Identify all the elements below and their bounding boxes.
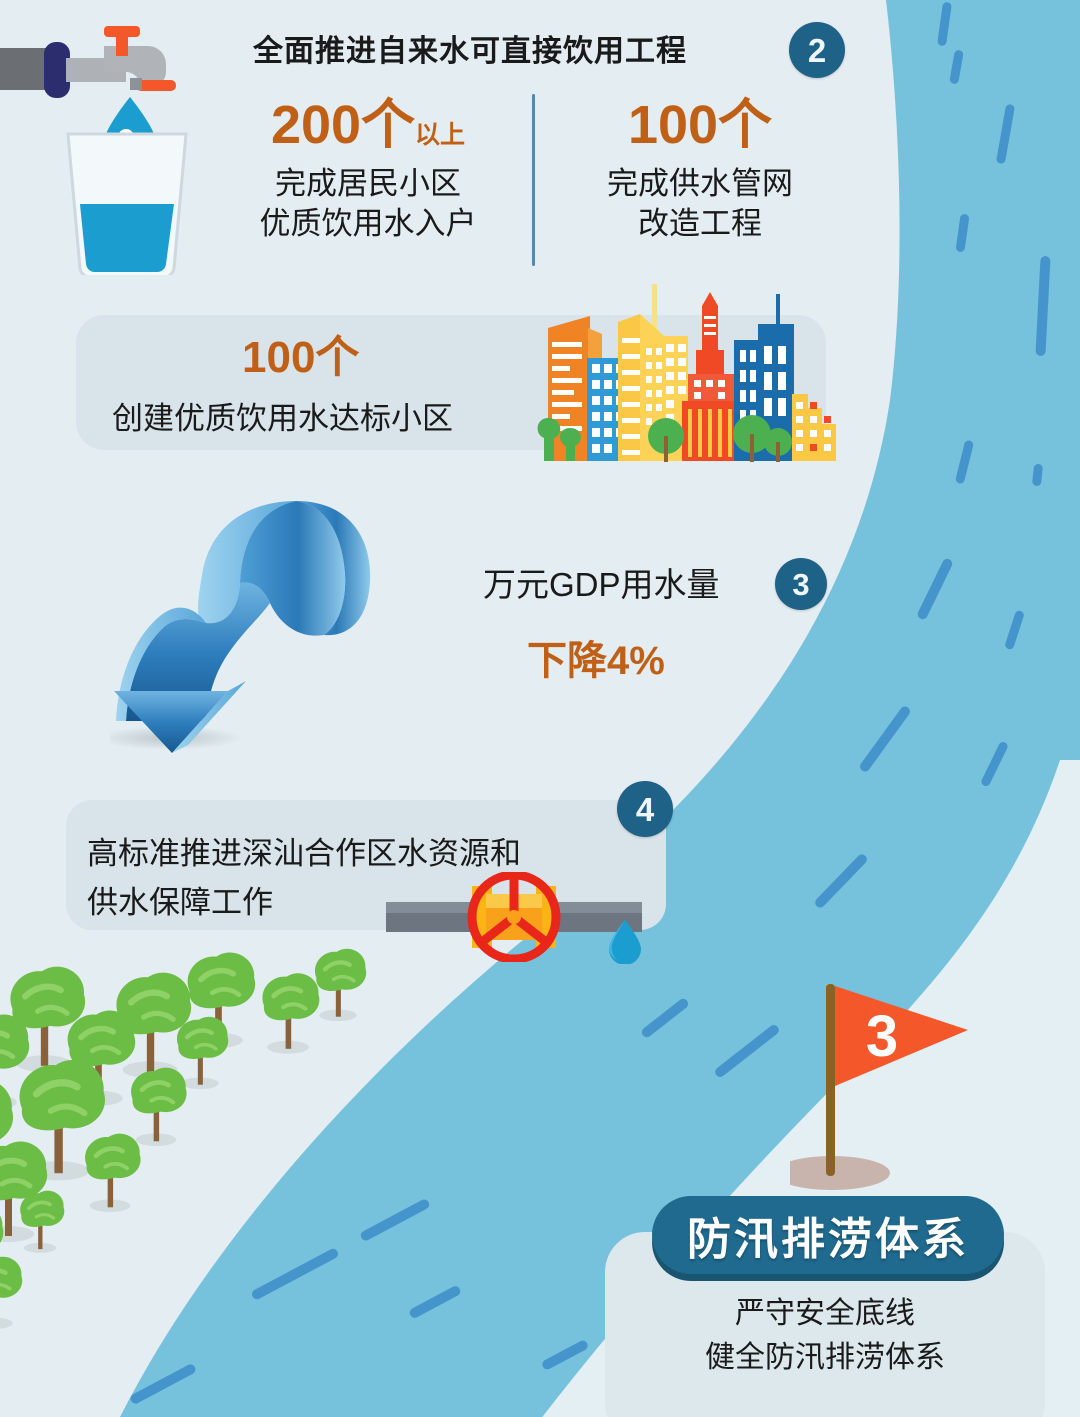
- flood-line2: 健全防汛排涝体系: [605, 1336, 1045, 1380]
- section2-badge: 2: [789, 22, 845, 78]
- section4-line2: 供水保障工作: [87, 882, 273, 924]
- stat-number: 200个以上: [218, 98, 518, 152]
- flood-banner-label: 防汛排涝体系: [687, 1203, 969, 1267]
- gdp-value: 下降4%: [527, 628, 665, 686]
- infographic-canvas: 全面推进自来水可直接饮用工程 2 200个以上 完成居民小区 优质饮用水入户 1…: [0, 0, 1080, 1417]
- forest-trees-icon: [0, 930, 458, 1350]
- stat-number: 100个: [556, 98, 844, 152]
- stat-block-pipeline: 100个 完成供水管网 改造工程: [556, 98, 844, 245]
- water-glass-icon: [62, 130, 192, 275]
- flag-number: 3: [866, 1004, 898, 1069]
- section4-badge: 4: [617, 781, 673, 837]
- flood-banner: 防汛排涝体系: [652, 1196, 1004, 1274]
- stat-description: 完成居民小区 优质饮用水入户: [218, 164, 518, 245]
- stat-line1: 完成居民小区: [218, 164, 518, 204]
- stat-suffix: 以上: [415, 121, 465, 149]
- stat-description: 完成供水管网 改造工程: [556, 164, 844, 245]
- stat-block-residential: 200个以上 完成居民小区 优质饮用水入户: [218, 98, 518, 245]
- city-skyline-icon: [530, 276, 850, 466]
- gdp-label: 万元GDP用水量: [483, 558, 720, 606]
- section2-title: 全面推进自来水可直接饮用工程: [253, 26, 687, 70]
- stat-divider: [532, 94, 535, 266]
- stat-line2: 改造工程: [556, 204, 844, 244]
- section3-badge: 3: [775, 558, 827, 610]
- stat-line1: 完成供水管网: [556, 164, 844, 204]
- flood-subtext: 严守安全底线 健全防汛排涝体系: [605, 1292, 1045, 1379]
- stat-line2: 优质饮用水入户: [218, 204, 518, 244]
- card-text: 创建优质饮用水达标小区: [112, 398, 453, 440]
- card-number: 100个: [242, 336, 359, 380]
- section4-line1: 高标准推进深汕合作区水资源和: [87, 833, 521, 875]
- water-droplet-icon: [607, 918, 643, 964]
- down-arrow-icon: [110, 495, 440, 755]
- flag-icon: 3: [790, 968, 1000, 1198]
- flood-line1: 严守安全底线: [605, 1292, 1045, 1336]
